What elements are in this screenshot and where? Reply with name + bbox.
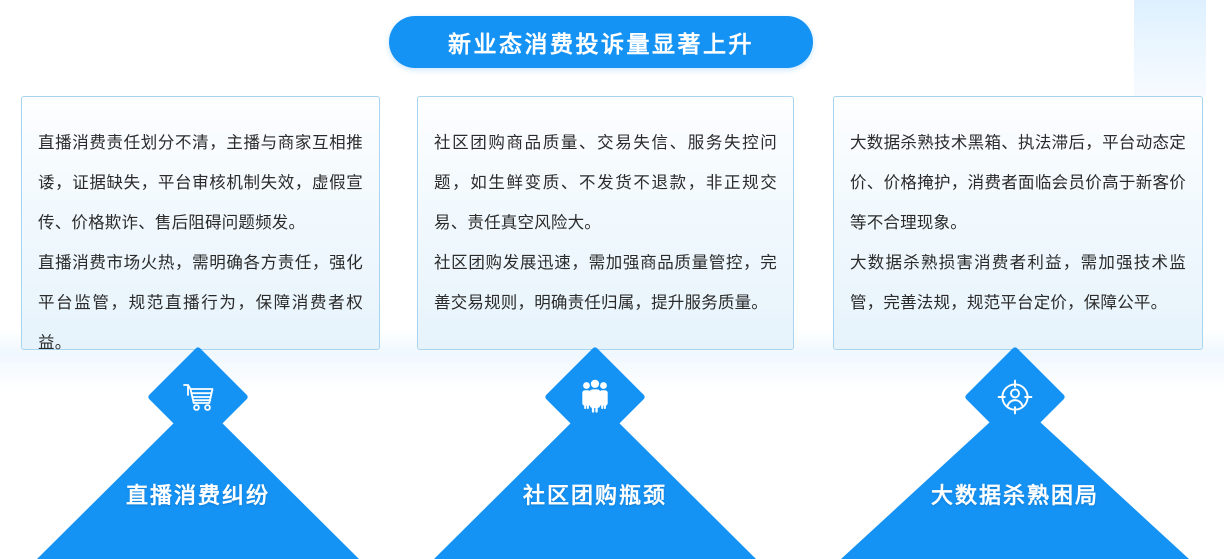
card-paragraph-solution: 直播消费市场火热，需明确各方责任，强化平台监管，规范直播行为，保障消费者权益。 bbox=[38, 243, 363, 363]
background-tint-top-right bbox=[1134, 0, 1206, 96]
text-card-community-group-buying: 社区团购商品质量、交易失信、服务失控问题，如生鲜变质、不发货不退款，非正规交易、… bbox=[417, 96, 794, 350]
card-paragraph-solution: 社区团购发展迅速，需加强商品质量管控，完善交易规则，明确责任归属，提升服务质量。 bbox=[434, 243, 777, 323]
user-target-icon bbox=[991, 373, 1039, 421]
pillar-label: 大数据杀熟困局 bbox=[841, 478, 1189, 510]
page-title-pill: 新业态消费投诉量显著上升 bbox=[389, 16, 813, 68]
pillar-label: 直播消费纠纷 bbox=[37, 478, 359, 510]
text-card-live-commerce: 直播消费责任划分不清，主播与商家互相推诿，证据缺失，平台审核机制失效，虚假宣传、… bbox=[21, 96, 380, 350]
card-paragraph-problem: 直播消费责任划分不清，主播与商家互相推诿，证据缺失，平台审核机制失效，虚假宣传、… bbox=[38, 123, 363, 243]
card-paragraph-problem: 社区团购商品质量、交易失信、服务失控问题，如生鲜变质、不发货不退款，非正规交易、… bbox=[434, 123, 777, 243]
card-paragraph-solution: 大数据杀熟损害消费者利益，需加强技术监管，完善法规，规范平台定价，保障公平。 bbox=[850, 243, 1186, 323]
pillar-label: 社区团购瓶颈 bbox=[434, 478, 756, 510]
pillar-big-data-price-discrimination: 大数据杀熟困局 bbox=[841, 361, 1189, 559]
people-group-icon bbox=[571, 373, 619, 421]
text-card-big-data-price-discrimination: 大数据杀熟技术黑箱、执法滞后，平台动态定价、价格掩护，消费者面临会员价高于新客价… bbox=[833, 96, 1203, 350]
page-title: 新业态消费投诉量显著上升 bbox=[448, 25, 754, 59]
pillar-live-commerce: 直播消费纠纷 bbox=[37, 361, 359, 559]
shopping-cart-icon bbox=[174, 373, 222, 421]
card-paragraph-problem: 大数据杀熟技术黑箱、执法滞后，平台动态定价、价格掩护，消费者面临会员价高于新客价… bbox=[850, 123, 1186, 243]
infographic-canvas: 新业态消费投诉量显著上升 直播消费责任划分不清，主播与商家互相推诿，证据缺失，平… bbox=[0, 0, 1224, 559]
pillar-community-group-buying: 社区团购瓶颈 bbox=[434, 361, 756, 559]
